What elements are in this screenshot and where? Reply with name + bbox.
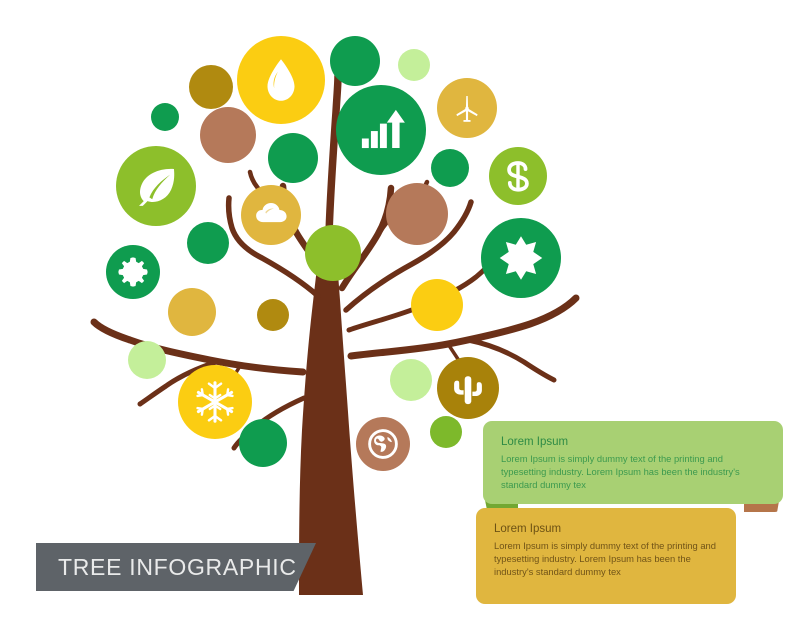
leaf-circle-pale-left	[128, 341, 166, 379]
callout-green-body: Lorem Ipsum is simply dummy text of the …	[501, 452, 765, 492]
callout-green[interactable]: Lorem Ipsum Lorem Ipsum is simply dummy …	[483, 421, 783, 504]
leaf-circle-green-left-mid	[187, 222, 229, 264]
leaf-circle-lgreen-center	[305, 225, 361, 281]
water-drop-icon-badge[interactable]	[237, 36, 325, 124]
leaf-circle-pale-top	[398, 49, 430, 81]
growth-chart-icon-badge[interactable]	[336, 85, 426, 175]
gear-icon-badge[interactable]	[106, 245, 160, 299]
wind-turbine-icon-badge[interactable]	[437, 78, 497, 138]
leaf-circle-green-top	[330, 36, 380, 86]
leaf-circle-brown-upper	[200, 107, 256, 163]
snowflake-icon-badge[interactable]	[178, 365, 252, 439]
globe-icon-badge[interactable]	[356, 417, 410, 471]
callout-yellow[interactable]: Lorem Ipsum Lorem Ipsum is simply dummy …	[476, 508, 736, 604]
leaf-circle-green-lower	[239, 419, 287, 467]
leaf-circle-grass-lower	[430, 416, 462, 448]
cloud-icon-badge[interactable]	[241, 185, 301, 245]
leaf-circle-green-small	[151, 103, 179, 131]
leaf-icon-badge[interactable]	[116, 146, 196, 226]
title-banner: TREE INFOGRAPHIC	[36, 543, 316, 591]
leaf-circle-olive-upper	[189, 65, 233, 109]
tree-infographic-canvas: Lorem Ipsum Lorem Ipsum is simply dummy …	[0, 0, 800, 623]
sun-icon-badge[interactable]	[481, 218, 561, 298]
leaf-circle-green-right	[431, 149, 469, 187]
callout-green-title: Lorem Ipsum	[501, 435, 765, 451]
leaf-circle-pale-center	[390, 359, 432, 401]
leaf-circle-brown-mid	[386, 183, 448, 245]
callout-yellow-title: Lorem Ipsum	[494, 522, 718, 538]
leaf-circle-olive-center	[257, 299, 289, 331]
page-title: TREE INFOGRAPHIC	[36, 554, 297, 581]
dollar-sign-icon-badge[interactable]	[489, 147, 547, 205]
leaf-circle-green-mid	[268, 133, 318, 183]
leaf-circle-yellow-right	[411, 279, 463, 331]
leaf-circle-gold-left	[168, 288, 216, 336]
cactus-icon-badge[interactable]	[437, 357, 499, 419]
callout-yellow-body: Lorem Ipsum is simply dummy text of the …	[494, 539, 718, 579]
